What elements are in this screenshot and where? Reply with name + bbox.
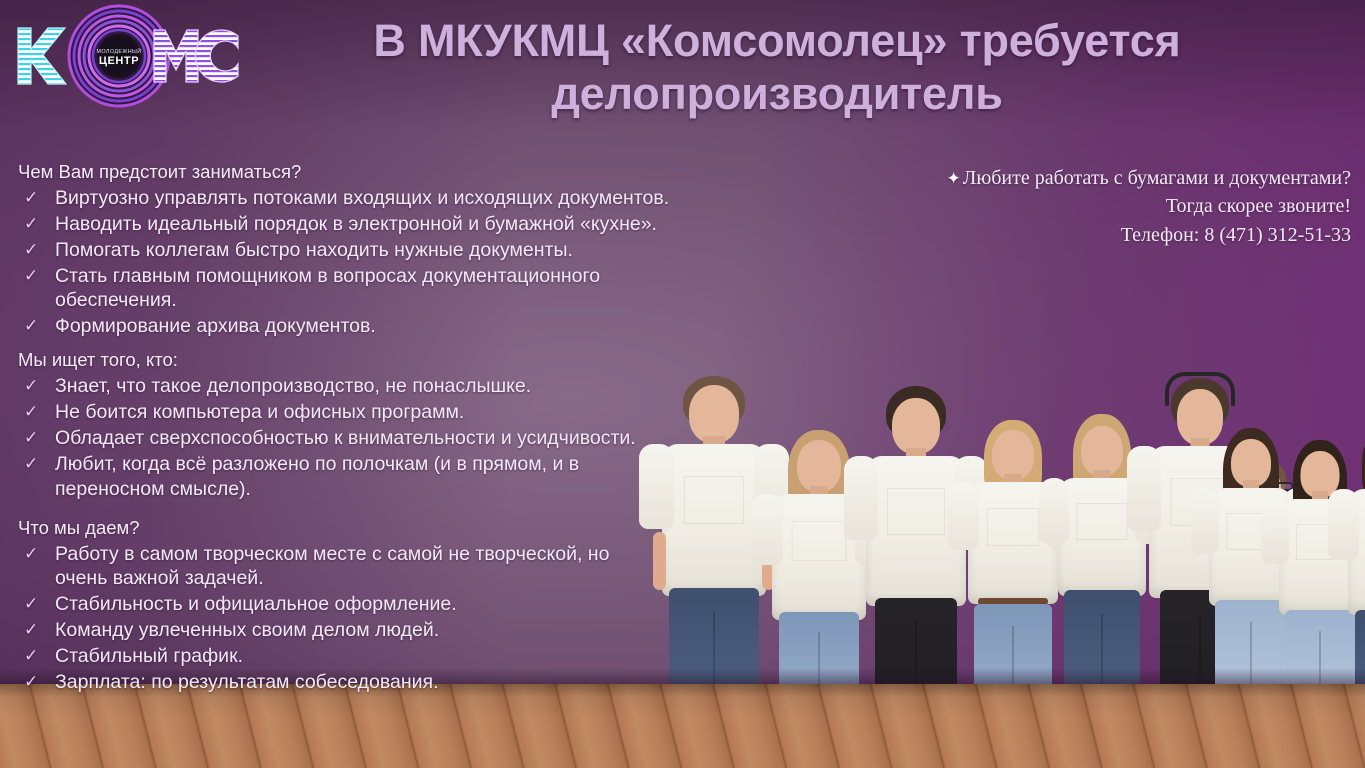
page-title: В МКУКМЦ «Комсомолец» требуется делопрои… [262, 14, 1292, 120]
list-item: ✓Команду увлеченных своим делом людей. [16, 618, 696, 643]
list-item-text: Зарплата: по результатам собеседования. [55, 671, 439, 693]
logo-svg: МОЛОДЕЖНЫЙ ЦЕНТР [6, 2, 246, 110]
logo-letter-s [195, 30, 238, 82]
list-item-text: Стабильный график. [55, 645, 243, 667]
offer-list: ✓Работу в самом творческом месте с самой… [16, 542, 696, 696]
section-heading: Что мы даем? [18, 516, 696, 540]
poster-canvas: МОЛОДЕЖНЫЙ ЦЕНТР В МКУКМЦ «Комсомолец» т… [0, 0, 1365, 768]
head [797, 440, 841, 492]
check-icon: ✓ [24, 619, 38, 641]
contact-block: ✦Любите работать с бумагами и документам… [851, 164, 1351, 249]
list-item: ✓Стабильность и официальное оформление. [16, 592, 696, 617]
contact-cta: Тогда скорее звоните! [851, 192, 1351, 220]
list-item: ✓Виртуозно управлять потоками входящих и… [16, 186, 696, 211]
check-icon: ✓ [24, 427, 38, 449]
shirt-print [888, 489, 944, 534]
requirements-list: ✓Знает, что такое делопроизводство, не п… [16, 374, 696, 502]
list-item: ✓Работу в самом творческом месте с самой… [16, 542, 636, 592]
check-icon: ✓ [24, 213, 38, 235]
section-offer: Что мы даем? ✓Работу в самом творческом … [16, 516, 696, 695]
logo-letter-m [154, 30, 198, 82]
list-item-text: Стабильность и официальное оформление. [55, 593, 457, 615]
section-duties: Чем Вам предстоит заниматься? ✓Виртуозно… [16, 160, 696, 339]
section-heading: Мы ищет того, кто: [18, 348, 696, 372]
check-icon: ✓ [24, 543, 38, 565]
sleeve-left [1328, 489, 1359, 560]
duties-list: ✓Виртуозно управлять потоками входящих и… [16, 186, 696, 340]
sleeve-left [1261, 499, 1289, 564]
section-heading: Чем Вам предстоит заниматься? [18, 160, 696, 184]
list-item-text: Не боится компьютера и офисных программ. [55, 401, 464, 423]
head [992, 430, 1034, 480]
sleeve-left [844, 456, 878, 540]
sleeve-left [1039, 478, 1069, 544]
list-item: ✓Стать главным помощником в вопросах док… [16, 264, 696, 314]
check-icon: ✓ [24, 453, 38, 475]
shirt-print [793, 522, 846, 560]
list-item: ✓Знает, что такое делопроизводство, не п… [16, 374, 696, 399]
check-icon: ✓ [24, 187, 38, 209]
list-item: ✓Любит, когда всё разложено по полочкам … [16, 452, 616, 502]
list-item-text: Работу в самом творческом месте с самой … [55, 543, 609, 590]
list-item-text: Помогать коллегам быстро находить нужные… [55, 239, 573, 261]
list-item: ✓Формирование архива документов. [16, 314, 696, 339]
list-item: ✓Не боится компьютера и офисных программ… [16, 400, 696, 425]
check-icon: ✓ [24, 401, 38, 423]
check-icon: ✓ [24, 239, 38, 261]
sparkles-icon: ✦ [947, 169, 960, 188]
sleeve-left [1127, 446, 1162, 531]
head [1081, 426, 1123, 476]
check-icon: ✓ [24, 315, 38, 337]
list-item-text: Обладает сверхспособностью к внимательно… [55, 427, 636, 449]
job-description-column: Чем Вам предстоит заниматься? ✓Виртуозно… [16, 160, 696, 698]
head [892, 398, 940, 454]
list-item-text: Команду увлеченных своим делом людей. [55, 619, 439, 641]
list-item-text: Формирование архива документов. [55, 315, 376, 337]
check-icon: ✓ [24, 375, 38, 397]
list-item: ✓Стабильный график. [16, 644, 696, 669]
list-item: ✓Помогать коллегам быстро находить нужны… [16, 238, 696, 263]
logo-center-small: МОЛОДЕЖНЫЙ [97, 47, 142, 55]
list-item-text: Наводить идеальный порядок в электронной… [55, 213, 657, 235]
list-item: ✓Обладает сверхспособностью к внимательн… [16, 426, 696, 451]
contact-phone[interactable]: Телефон: 8 (471) 312-51-33 [851, 221, 1351, 249]
list-item-text: Любит, когда всё разложено по полочкам (… [55, 453, 579, 500]
list-item: ✓Зарплата: по результатам собеседования. [16, 670, 696, 695]
sleeve-left [1191, 488, 1220, 554]
head [689, 385, 739, 443]
sleeve-left [948, 482, 979, 550]
torso-shirt [1348, 489, 1365, 615]
shirt-print [988, 509, 1038, 546]
sleeve-left [751, 494, 783, 565]
contact-question: Любите работать с бумагами и документами… [963, 167, 1351, 189]
logo-letter-k [18, 28, 66, 84]
section-requirements: Мы ищет того, кто: ✓Знает, что такое дел… [16, 348, 696, 501]
list-item-text: Знает, что такое делопроизводство, не по… [55, 375, 531, 397]
list-item-text: Виртуозно управлять потоками входящих и … [55, 187, 669, 209]
check-icon: ✓ [24, 645, 38, 667]
check-icon: ✓ [24, 671, 38, 693]
check-icon: ✓ [24, 265, 38, 287]
list-item: ✓Наводить идеальный порядок в электронно… [16, 212, 696, 237]
logo-center-big: ЦЕНТР [99, 55, 139, 67]
contact-question-line: ✦Любите работать с бумагами и документам… [851, 164, 1351, 192]
check-icon: ✓ [24, 593, 38, 615]
list-item-text: Стать главным помощником в вопросах доку… [55, 265, 600, 312]
logo-komc[interactable]: МОЛОДЕЖНЫЙ ЦЕНТР [6, 2, 246, 110]
shirt-print [1077, 504, 1126, 539]
